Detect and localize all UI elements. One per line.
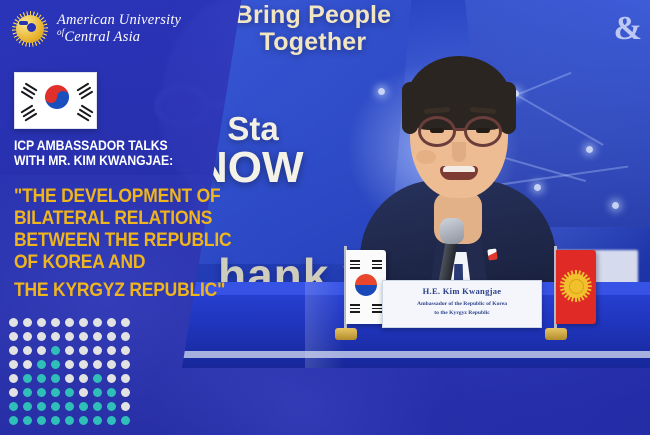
dot-grid-cell: [9, 332, 18, 341]
dot-grid-cell: [37, 332, 46, 341]
dot-grid-cell: [93, 388, 102, 397]
dot-grid-cell: [37, 416, 46, 425]
dot-grid-cell: [93, 374, 102, 383]
dot-grid-cell: [107, 402, 116, 411]
dot-grid-cell: [65, 346, 74, 355]
poster-canvas: & Bring People Together It Sta NOW hank …: [0, 0, 650, 435]
dot-grid-cell: [9, 360, 18, 369]
dot-grid-cell: [79, 388, 88, 397]
dot-grid-cell: [79, 332, 88, 341]
nameplate-title-line2: to the Kyrgyz Republic: [383, 310, 541, 316]
dot-grid-cell: [107, 416, 116, 425]
dot-grid-cell: [107, 332, 116, 341]
dot-grid-cell: [121, 374, 130, 383]
dot-grid-cell: [37, 318, 46, 327]
headline-line2: BILATERAL RELATIONS: [14, 207, 239, 229]
dot-grid-cell: [121, 318, 130, 327]
kicker-text: ICP AMBASSADOR TALKS WITH MR. KIM KWANGJ…: [14, 138, 208, 168]
headline-line3: BETWEEN THE REPUBLIC: [14, 229, 239, 251]
south-korea-flag-icon: [14, 72, 97, 129]
dot-grid-cell: [23, 388, 32, 397]
dot-grid-cell: [107, 388, 116, 397]
dot-grid-cell: [37, 374, 46, 383]
dot-grid-cell: [65, 374, 74, 383]
dot-grid-cell: [51, 402, 60, 411]
korea-table-flag: [324, 246, 370, 332]
nameplate: H.E. Kim Kwangjae Ambassador of the Repu…: [382, 280, 542, 328]
dot-grid-cell: [93, 346, 102, 355]
dot-grid-cell: [65, 388, 74, 397]
dot-grid-decoration: [6, 315, 132, 427]
headline-title: "THE DEVELOPMENT OF BILATERAL RELATIONS …: [14, 185, 239, 301]
auca-logo-line2: Central Asia: [64, 29, 140, 45]
dot-grid-cell: [65, 318, 74, 327]
speaker-photo: & Bring People Together It Sta NOW hank …: [182, 0, 650, 368]
kicker-line2: WITH MR. KIM KWANGJAE:: [14, 153, 208, 168]
dot-grid-cell: [65, 402, 74, 411]
dot-grid-cell: [93, 360, 102, 369]
dot-grid-cell: [9, 402, 18, 411]
dot-grid-cell: [121, 402, 130, 411]
lapel-pin-icon: [487, 248, 497, 260]
dot-grid-cell: [121, 332, 130, 341]
dot-grid-cell: [121, 388, 130, 397]
dot-grid-cell: [37, 388, 46, 397]
dot-grid-cell: [79, 318, 88, 327]
dot-grid-cell: [107, 360, 116, 369]
dot-grid-cell: [37, 402, 46, 411]
dot-grid-cell: [51, 374, 60, 383]
dot-grid-cell: [51, 388, 60, 397]
auca-logo[interactable]: American University ofCentral Asia: [12, 11, 181, 47]
auca-logo-text: American University ofCentral Asia: [57, 13, 181, 46]
dot-grid-cell: [51, 346, 60, 355]
photo-bottom-border: [182, 351, 650, 358]
dot-grid-cell: [65, 332, 74, 341]
auca-logo-line1: American University: [57, 13, 181, 29]
dot-grid-cell: [107, 318, 116, 327]
dot-grid-cell: [79, 346, 88, 355]
dot-grid-cell: [79, 402, 88, 411]
microphone-icon: [440, 218, 464, 244]
dot-grid-cell: [37, 360, 46, 369]
dot-grid-cell: [107, 346, 116, 355]
dot-grid-cell: [121, 346, 130, 355]
headline-line5: THE KYRGYZ REPUBLIC": [14, 279, 239, 301]
auca-sun-eagle-emblem-icon: [12, 11, 48, 47]
headline-line4: OF KOREA AND: [14, 251, 239, 273]
dot-grid-cell: [23, 360, 32, 369]
dot-grid-cell: [51, 360, 60, 369]
dot-grid-cell: [9, 346, 18, 355]
dot-grid-cell: [23, 402, 32, 411]
dot-grid-cell: [93, 416, 102, 425]
dot-grid-cell: [9, 416, 18, 425]
dot-grid-cell: [23, 332, 32, 341]
kicker-line1: ICP AMBASSADOR TALKS: [14, 138, 208, 153]
dot-grid-cell: [23, 374, 32, 383]
nameplate-name: H.E. Kim Kwangjae: [383, 286, 541, 296]
dot-grid-cell: [9, 374, 18, 383]
dot-grid-cell: [51, 416, 60, 425]
dot-grid-cell: [23, 346, 32, 355]
dot-grid-cell: [121, 416, 130, 425]
dot-grid-cell: [79, 416, 88, 425]
dot-grid-cell: [79, 374, 88, 383]
nameplate-title-line1: Ambassador of the Republic of Korea: [383, 301, 541, 307]
dot-grid-cell: [65, 416, 74, 425]
headline-line1: "THE DEVELOPMENT OF: [14, 185, 239, 207]
dot-grid-cell: [79, 360, 88, 369]
dot-grid-cell: [121, 360, 130, 369]
dot-grid-cell: [23, 318, 32, 327]
dot-grid-cell: [93, 402, 102, 411]
dot-grid-cell: [93, 318, 102, 327]
dot-grid-cell: [9, 318, 18, 327]
dot-grid-cell: [9, 388, 18, 397]
dot-grid-cell: [51, 332, 60, 341]
dot-grid-cell: [93, 332, 102, 341]
dot-grid-cell: [51, 318, 60, 327]
eyeglasses-icon: [418, 116, 456, 147]
dot-grid-cell: [23, 416, 32, 425]
dot-grid-cell: [107, 374, 116, 383]
backdrop-ampersand: &: [614, 10, 642, 48]
dot-grid-cell: [37, 346, 46, 355]
dot-grid-cell: [65, 360, 74, 369]
